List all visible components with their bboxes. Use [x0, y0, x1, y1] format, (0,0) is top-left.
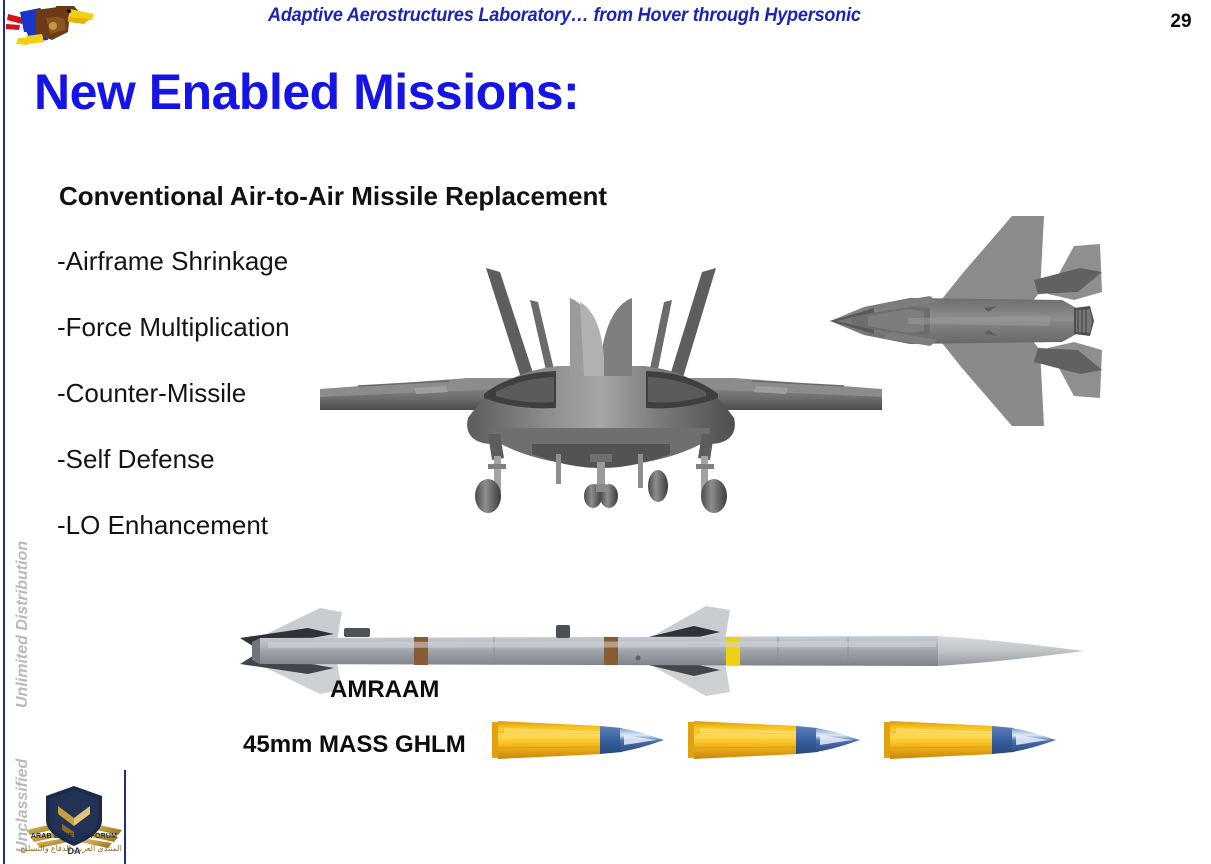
45mm-cartridge-illustration: [882, 716, 1058, 764]
f35-top-view-illustration: [812, 196, 1162, 446]
jayhawk-mascot-icon: [6, 2, 94, 48]
amraam-label: AMRAAM: [330, 676, 439, 704]
watermark-arabic-name: المنتدى العربي للدفاع والتسليح: [26, 844, 122, 853]
ghlm-label: 45mm MASS GHLM: [243, 731, 466, 759]
45mm-cartridge-illustration: [686, 716, 862, 764]
list-item: -LO Enhancement: [57, 507, 457, 573]
watermark-name: ARAB DEFENSE FORUM: [26, 833, 122, 840]
f35-front-view-illustration: [318, 258, 884, 513]
slide-header: Adaptive Aerostructures Laboratory… from…: [0, 0, 1211, 52]
page-title: New Enabled Missions:: [34, 63, 579, 121]
distribution-statement: Unlimited Distribution: [14, 541, 32, 708]
page-number: 29: [1170, 11, 1191, 33]
slide-left-border: [3, 0, 5, 864]
45mm-cartridge-illustration: [490, 716, 666, 764]
slide-canvas: Adaptive Aerostructures Laboratory… from…: [0, 0, 1211, 864]
section-subtitle: Conventional Air-to-Air Missile Replacem…: [59, 181, 607, 212]
header-title: Adaptive Aerostructures Laboratory… from…: [268, 5, 861, 27]
